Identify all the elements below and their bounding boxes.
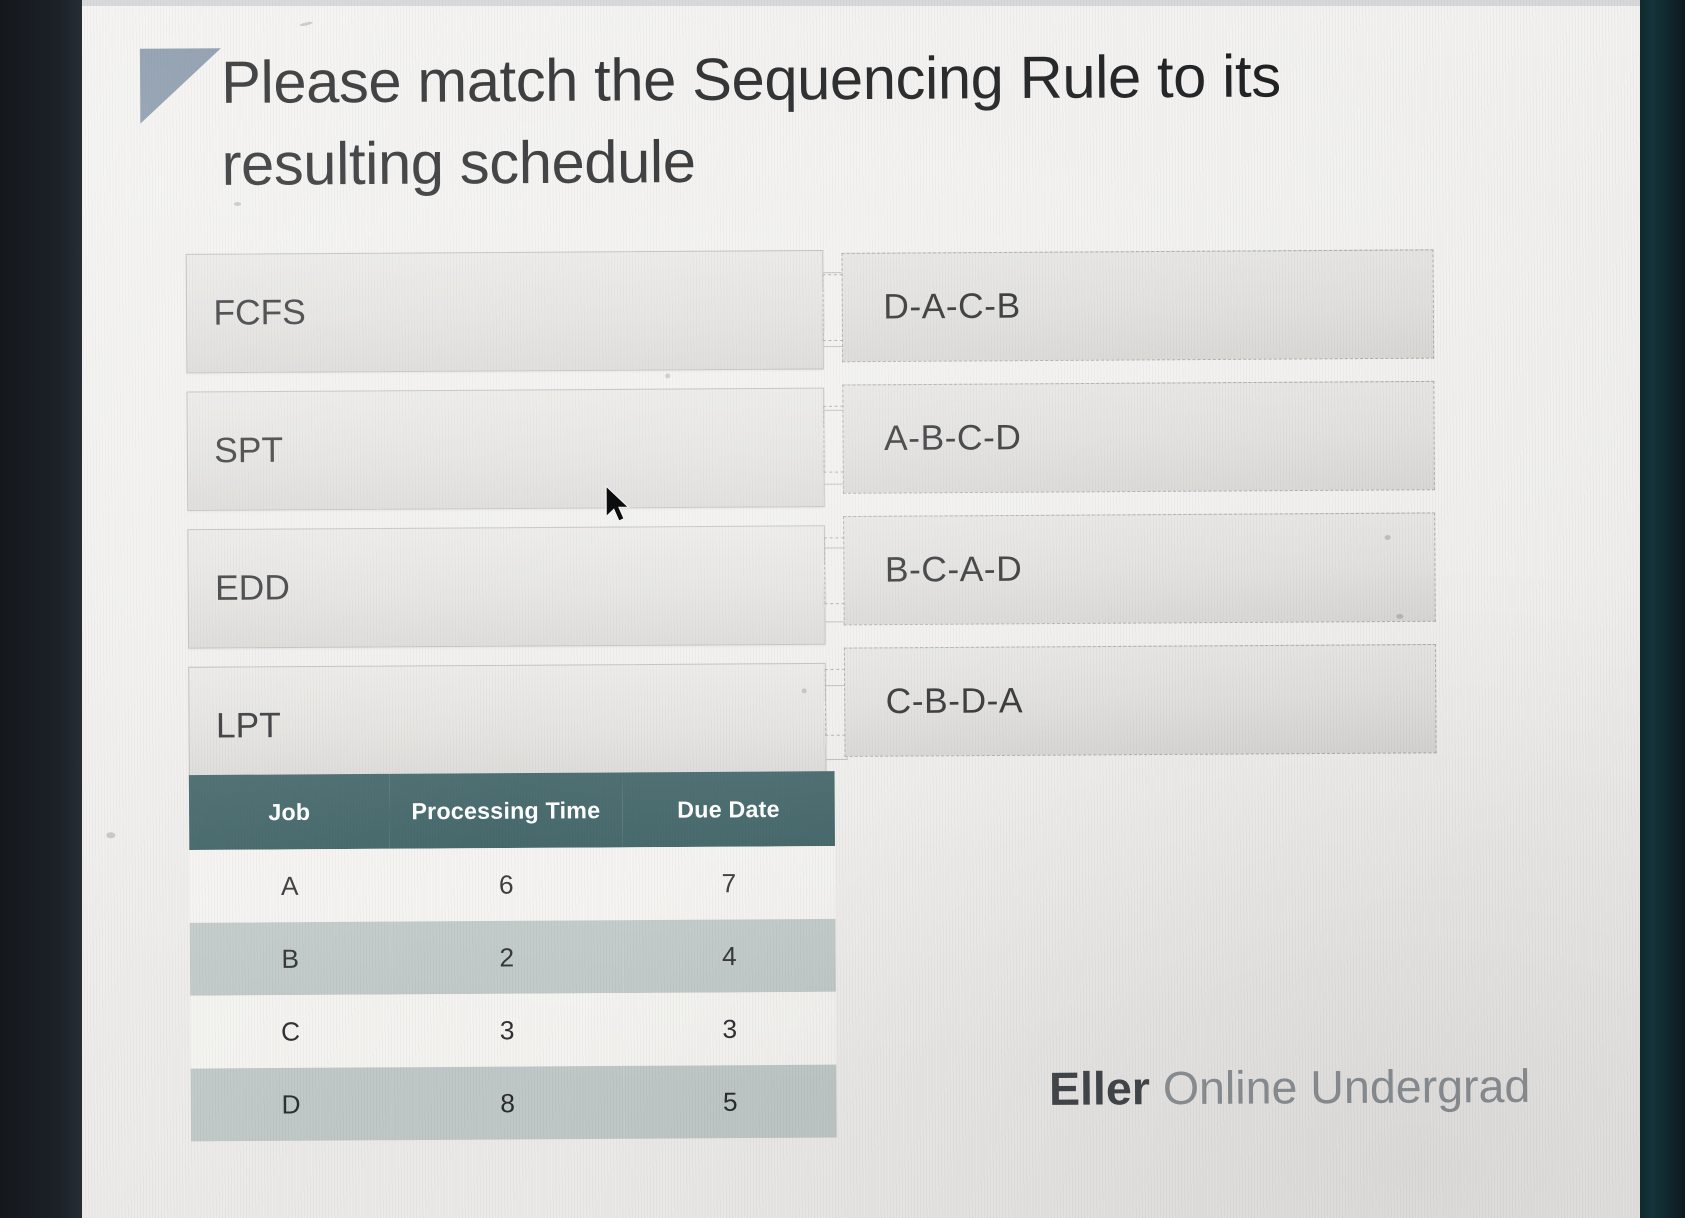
drag-card-label: LPT xyxy=(216,706,281,747)
slide-canvas: Please match the Sequencing Rule to its … xyxy=(71,0,1655,1218)
resulting-schedules-column: D-A-C-B A-B-C-D B-C-A-D C-B-D-A xyxy=(841,249,1436,779)
cell-processing-time: 8 xyxy=(391,1066,624,1140)
drop-zone-label: D-A-C-B xyxy=(883,286,1021,327)
cell-processing-time: 3 xyxy=(391,993,624,1067)
cell-processing-time: 2 xyxy=(390,920,623,994)
table-header: Job Processing Time Due Date xyxy=(189,771,835,850)
puzzle-notch-icon xyxy=(825,669,846,736)
sequencing-rules-column: FCFS SPT EDD LPT xyxy=(186,250,827,804)
puzzle-notch-icon xyxy=(822,274,843,341)
drag-card-label: FCFS xyxy=(213,293,306,334)
drop-zone-label: B-C-A-D xyxy=(885,549,1023,590)
drag-card-label: EDD xyxy=(215,568,290,609)
cell-due-date: 5 xyxy=(624,1065,837,1139)
cell-due-date: 7 xyxy=(622,846,835,920)
drop-zone-abcd[interactable]: A-B-C-D xyxy=(842,381,1435,494)
page-title: Please match the Sequencing Rule to its … xyxy=(221,35,1366,207)
drop-zone-dacb[interactable]: D-A-C-B xyxy=(841,249,1434,362)
table-row: D 8 5 xyxy=(191,1065,837,1142)
drag-card-lpt[interactable]: LPT xyxy=(188,663,826,786)
monitor-bezel-right xyxy=(1640,0,1685,1218)
table-row: B 2 4 xyxy=(190,919,836,996)
cell-processing-time: 6 xyxy=(390,847,623,921)
drag-card-edd[interactable]: EDD xyxy=(187,525,825,648)
puzzle-notch-icon xyxy=(823,406,844,473)
drop-zone-label: C-B-D-A xyxy=(886,681,1024,722)
drag-card-spt[interactable]: SPT xyxy=(187,388,825,511)
cell-job: A xyxy=(189,849,390,923)
table-header-row: Job Processing Time Due Date xyxy=(189,771,835,850)
cell-due-date: 4 xyxy=(623,919,836,993)
monitor-bezel-top xyxy=(82,0,1640,6)
monitor-bezel-left xyxy=(0,0,82,1218)
brand-name: Eller xyxy=(1049,1062,1150,1115)
job-data-table: Job Processing Time Due Date A 6 7 B 2 4 xyxy=(189,771,837,1141)
drag-card-label: SPT xyxy=(214,430,283,471)
brand-tagline: Online Undergrad xyxy=(1150,1059,1531,1114)
cell-due-date: 3 xyxy=(623,992,836,1066)
drop-zone-label: A-B-C-D xyxy=(884,418,1022,459)
column-header-processing-time: Processing Time xyxy=(389,772,622,848)
arrow-pointer-icon xyxy=(604,485,631,524)
cell-job: C xyxy=(190,994,391,1068)
table-row: A 6 7 xyxy=(189,846,835,923)
drop-zone-bcad[interactable]: B-C-A-D xyxy=(843,512,1436,625)
drop-zone-cbda[interactable]: C-B-D-A xyxy=(844,644,1437,757)
column-header-job: Job xyxy=(189,774,390,850)
cell-job: B xyxy=(190,922,391,996)
column-header-due-date: Due Date xyxy=(622,771,835,847)
table-row: C 3 3 xyxy=(190,992,836,1069)
cell-job: D xyxy=(191,1067,392,1141)
table-body: A 6 7 B 2 4 C 3 3 D xyxy=(189,846,836,1141)
presentation-screen: Please match the Sequencing Rule to its … xyxy=(71,0,1655,1218)
brand-logo: Eller Online Undergrad xyxy=(1049,1058,1531,1116)
drag-card-fcfs[interactable]: FCFS xyxy=(186,250,824,373)
puzzle-notch-icon xyxy=(824,537,845,604)
photo-of-screen: Please match the Sequencing Rule to its … xyxy=(0,0,1685,1218)
triangle-icon xyxy=(140,48,221,123)
